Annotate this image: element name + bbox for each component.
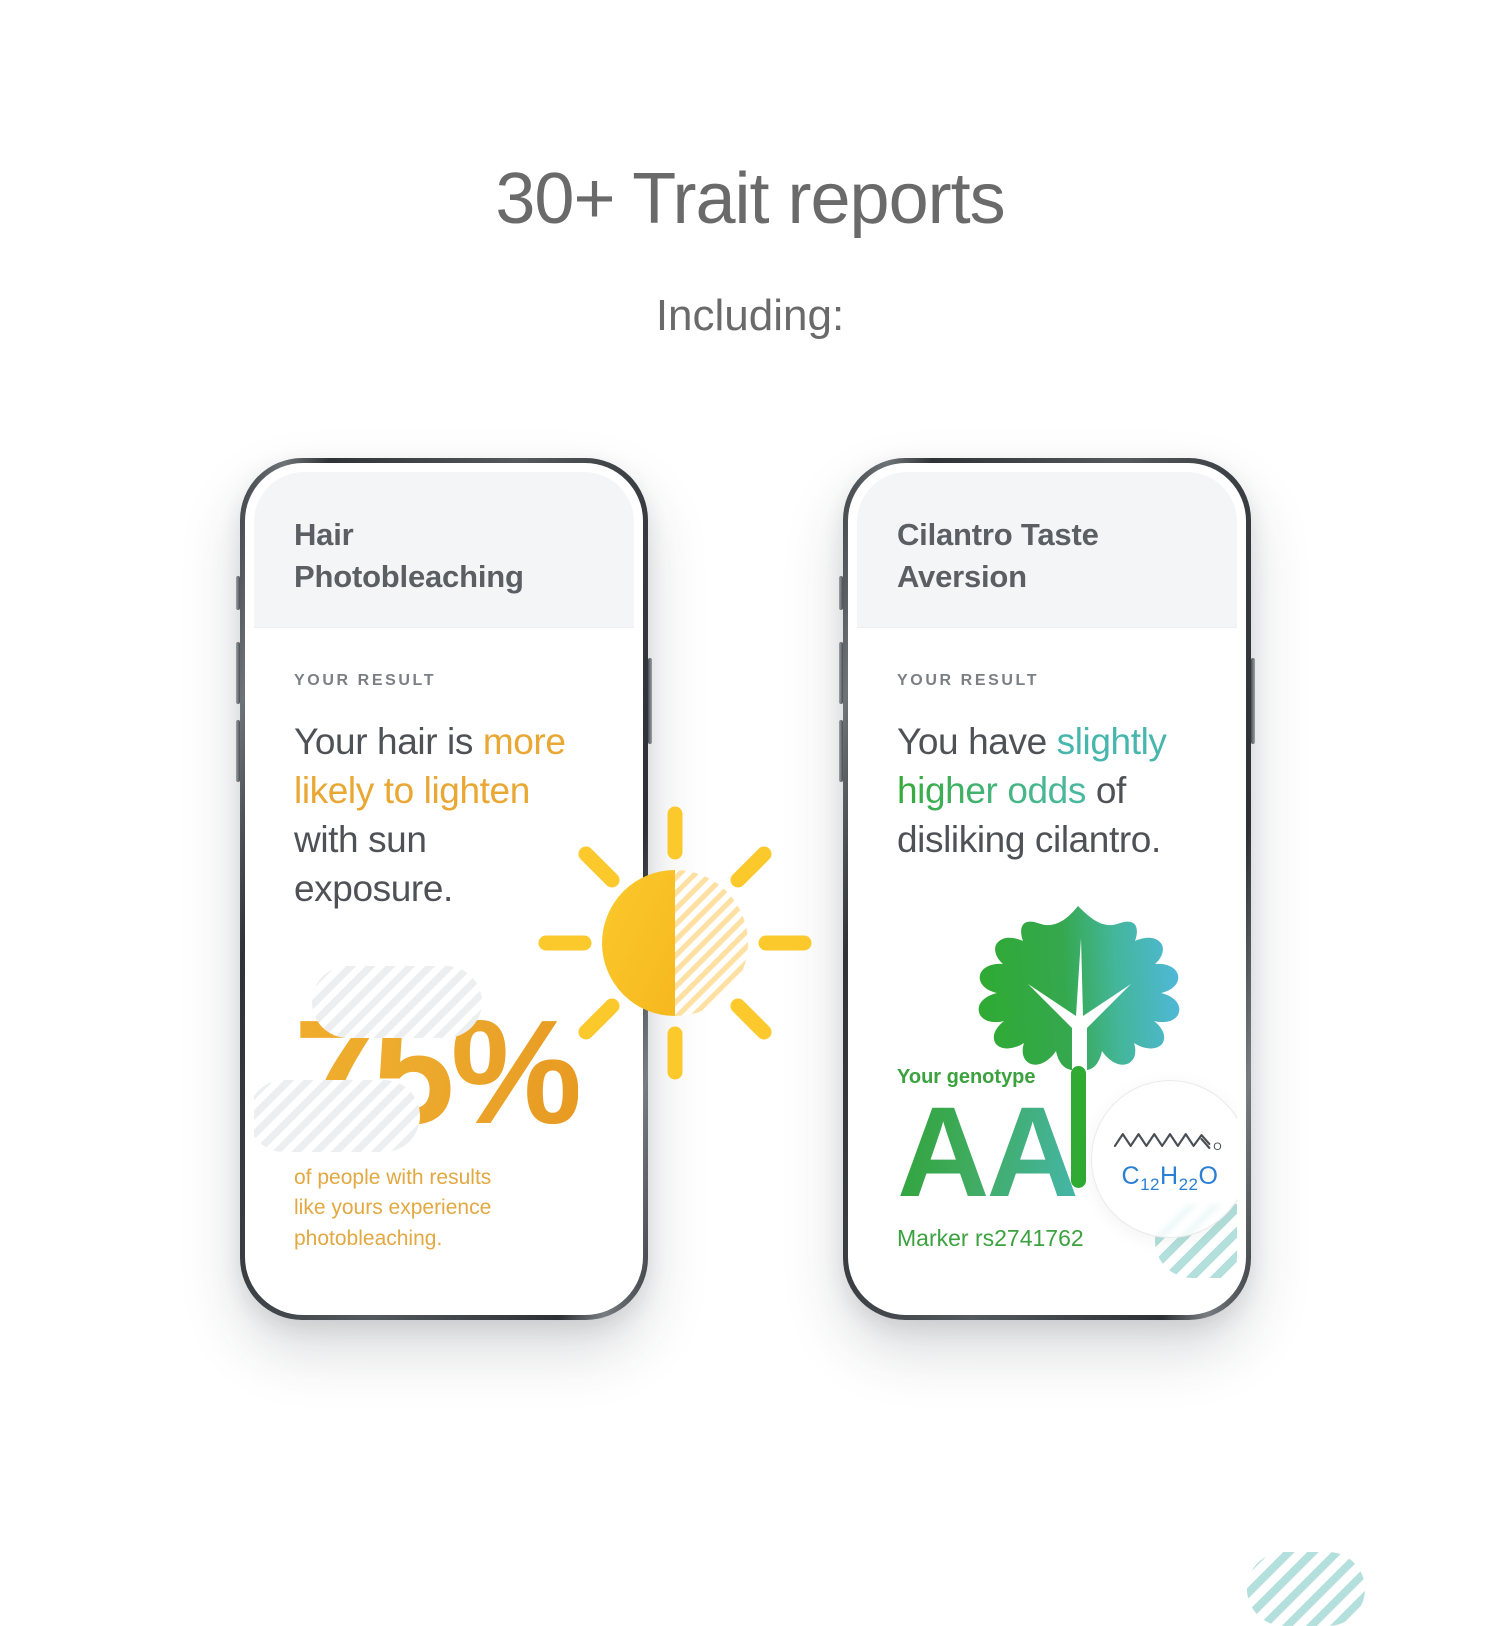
result-highlight-teal: slightly [1057, 721, 1167, 762]
phone-screen-cilantro: Cilantro Taste Aversion YOUR RESULT You … [857, 472, 1237, 1306]
trait-title: Hair Photobleaching [294, 514, 594, 597]
decorative-striped-pill-outside [1247, 1552, 1365, 1626]
trait-title: Cilantro Taste Aversion [897, 514, 1197, 597]
decorative-striped-pill [254, 1080, 420, 1152]
statistic-caption: of people with results like yours experi… [294, 1163, 578, 1254]
svg-text:O: O [1213, 1140, 1221, 1152]
aldehyde-structure-icon: O [1111, 1124, 1229, 1158]
page-subtitle: Including: [0, 291, 1500, 341]
decorative-striped-pill [312, 966, 482, 1038]
result-text-segment: You have [897, 721, 1057, 762]
your-result-label: YOUR RESULT [897, 672, 1197, 690]
phone-volume-down-button[interactable] [236, 720, 240, 782]
trait-card-header: Cilantro Taste Aversion [857, 472, 1237, 628]
formula-oxygen: O [1199, 1162, 1219, 1190]
sun-icon [532, 800, 818, 1086]
chemical-formula: C12H22O [1122, 1162, 1219, 1195]
result-highlight-green: higher odds [897, 770, 1086, 811]
phone-mockup-cilantro: Cilantro Taste Aversion YOUR RESULT You … [843, 458, 1251, 1320]
formula-hydrogen-count: 22 [1179, 1175, 1199, 1194]
phone-mute-switch[interactable] [236, 576, 240, 610]
phones-stage: Hair Photobleaching YOUR RESULT Your hai… [0, 440, 1500, 1340]
phone-volume-up-button[interactable] [839, 642, 843, 704]
phone-mute-switch[interactable] [839, 576, 843, 610]
trait-card-body: YOUR RESULT You have slightly higher odd… [857, 628, 1237, 1306]
phone-power-button[interactable] [648, 658, 652, 744]
formula-carbon: C [1122, 1162, 1141, 1190]
formula-carbon-count: 12 [1140, 1175, 1160, 1194]
phone-volume-up-button[interactable] [236, 642, 240, 704]
result-text-segment: Your hair is [294, 721, 483, 762]
result-statement: You have slightly higher odds of disliki… [897, 718, 1197, 864]
page-header: 30+ Trait reports Including: [0, 0, 1500, 341]
phone-power-button[interactable] [1251, 658, 1255, 744]
phone-volume-down-button[interactable] [839, 720, 843, 782]
page-title: 30+ Trait reports [0, 160, 1500, 239]
formula-hydrogen: H [1160, 1162, 1179, 1190]
trait-card-header: Hair Photobleaching [254, 472, 634, 628]
your-result-label: YOUR RESULT [294, 672, 594, 690]
genotype-marker: Marker rs2741762 [897, 1225, 1084, 1252]
phone-bezel: Cilantro Taste Aversion YOUR RESULT You … [848, 463, 1246, 1315]
result-text-segment: with sun exposure. [294, 819, 453, 909]
molecule-badge: O C12H22O [1091, 1080, 1237, 1238]
